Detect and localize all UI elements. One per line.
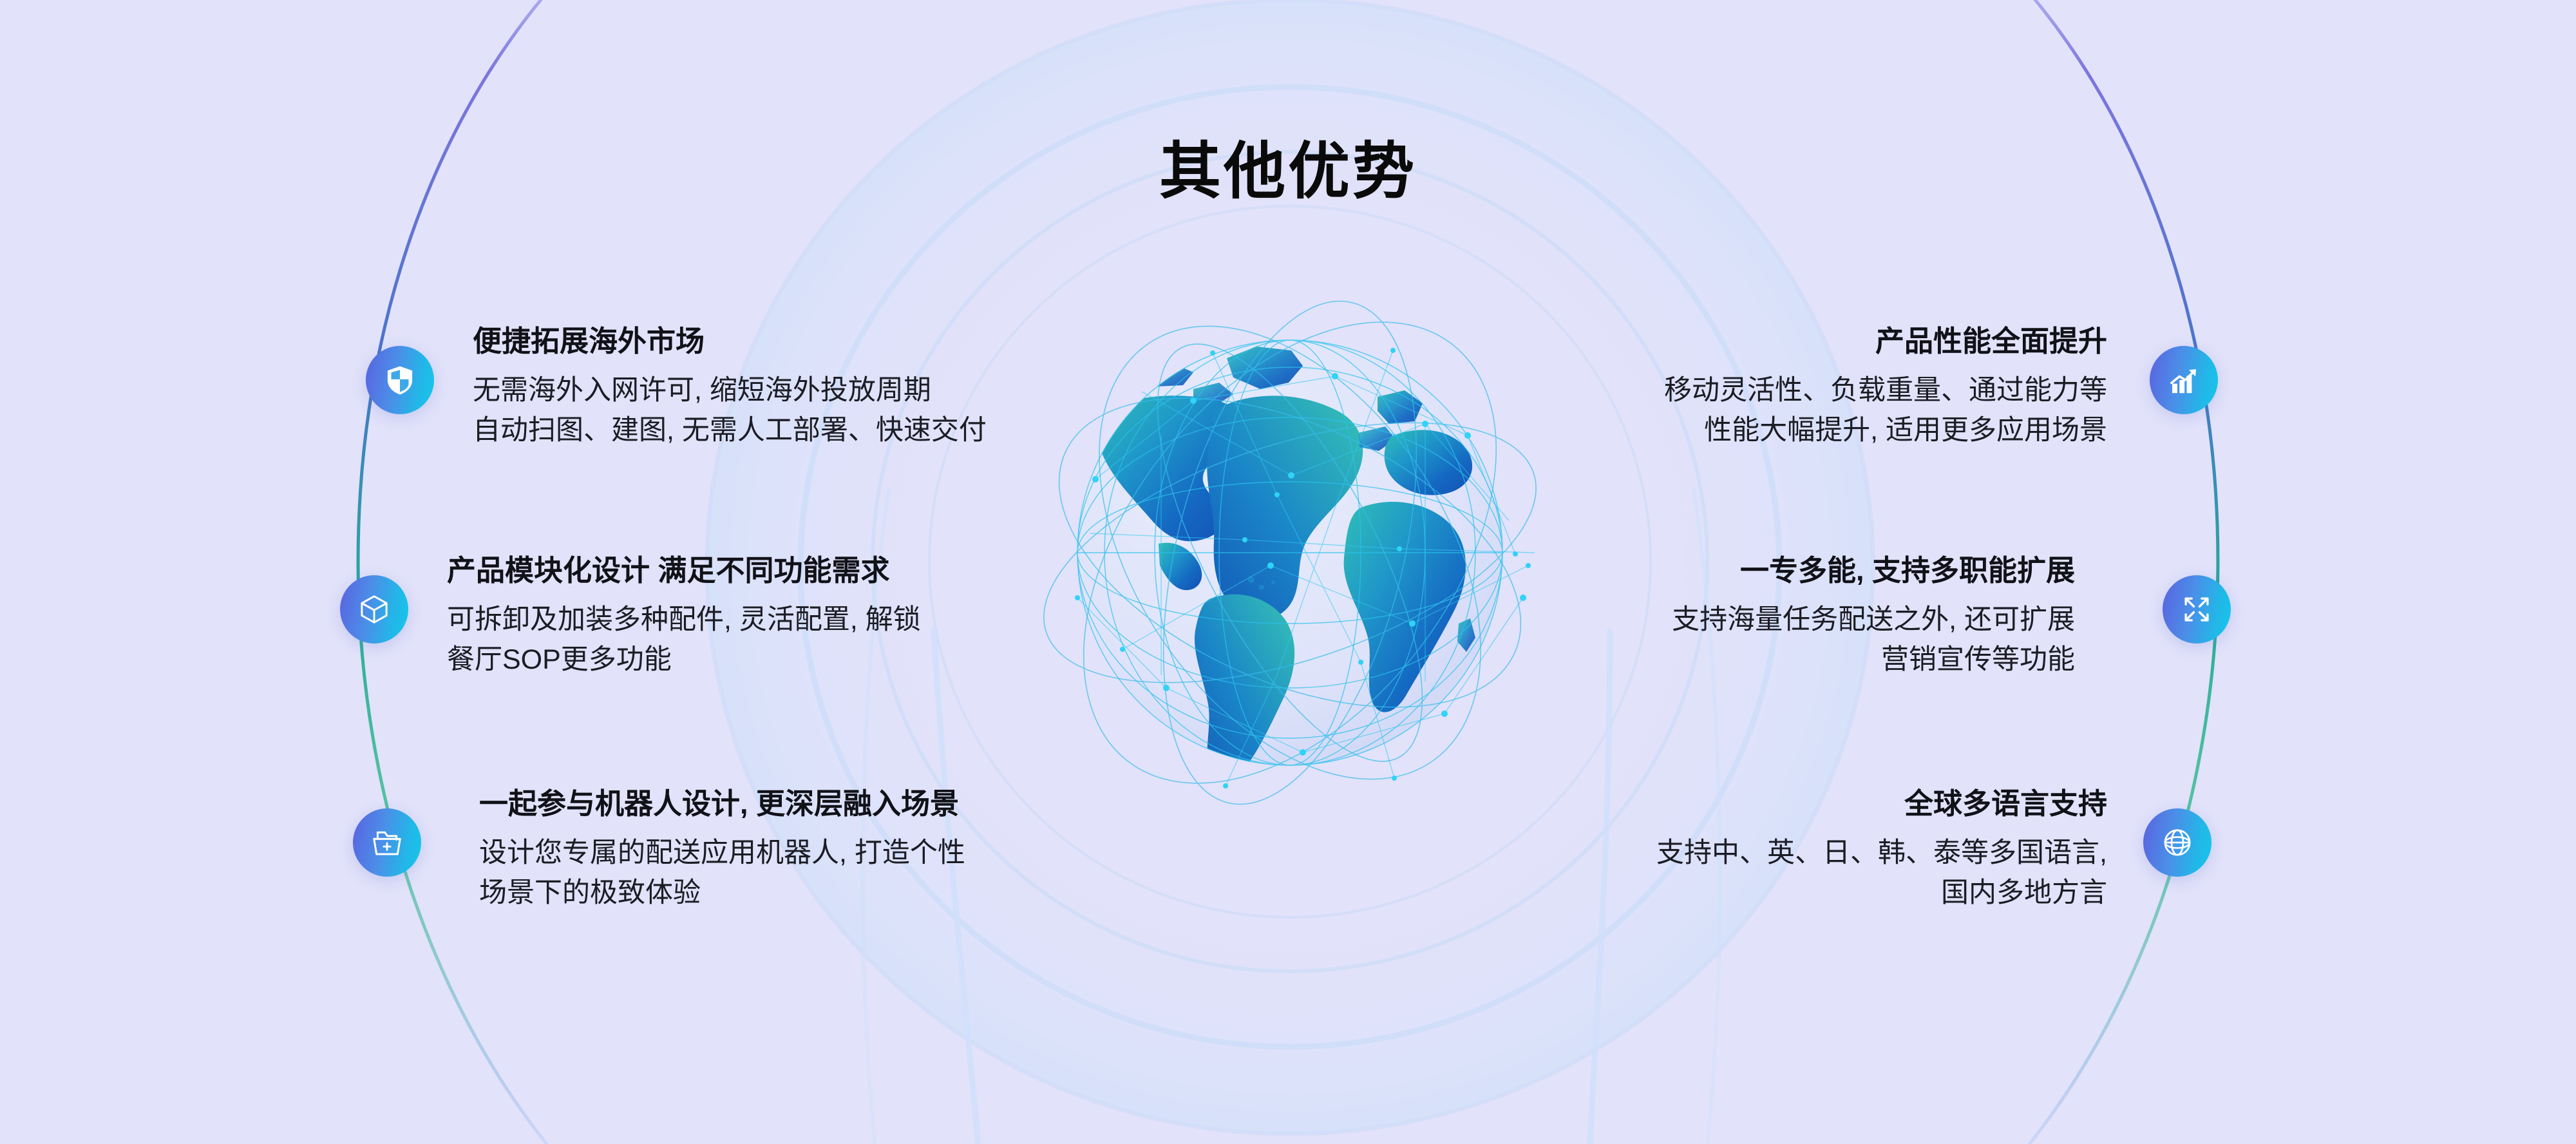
feature-line: 餐厅SOP更多功能 [447,640,1092,680]
feature-line: 国内多地方言 [1462,873,2107,913]
feature-title: 产品模块化设计 满足不同功能需求 [447,551,1092,591]
infographic-stage: 其他优势 [0,0,2576,1144]
folder-plus-icon-badge[interactable] [353,808,421,877]
page-title: 其他优势 [0,138,2576,206]
shield-icon-badge[interactable] [366,346,434,414]
globe-network-illustration [1000,263,1580,843]
growth-chart-icon-badge[interactable] [2150,346,2218,414]
globe-icon [2160,825,2195,860]
globe-icon-badge[interactable] [2143,808,2211,877]
folder-plus-icon [370,825,404,860]
feature-line: 可拆卸及加装多种配件, 灵活配置, 解锁 [447,600,1092,640]
feature-line: 场景下的极致体验 [479,873,1124,913]
shield-icon [383,363,417,397]
feature-block-1: 产品模块化设计 满足不同功能需求 可拆卸及加装多种配件, 灵活配置, 解锁 餐厅… [435,551,1092,680]
expand-arrows-icon [2179,592,2214,627]
expand-arrows-icon-badge[interactable] [2163,575,2231,643]
cube-icon-badge[interactable] [340,575,408,643]
cube-icon [357,592,392,627]
growth-chart-icon [2166,363,2201,397]
